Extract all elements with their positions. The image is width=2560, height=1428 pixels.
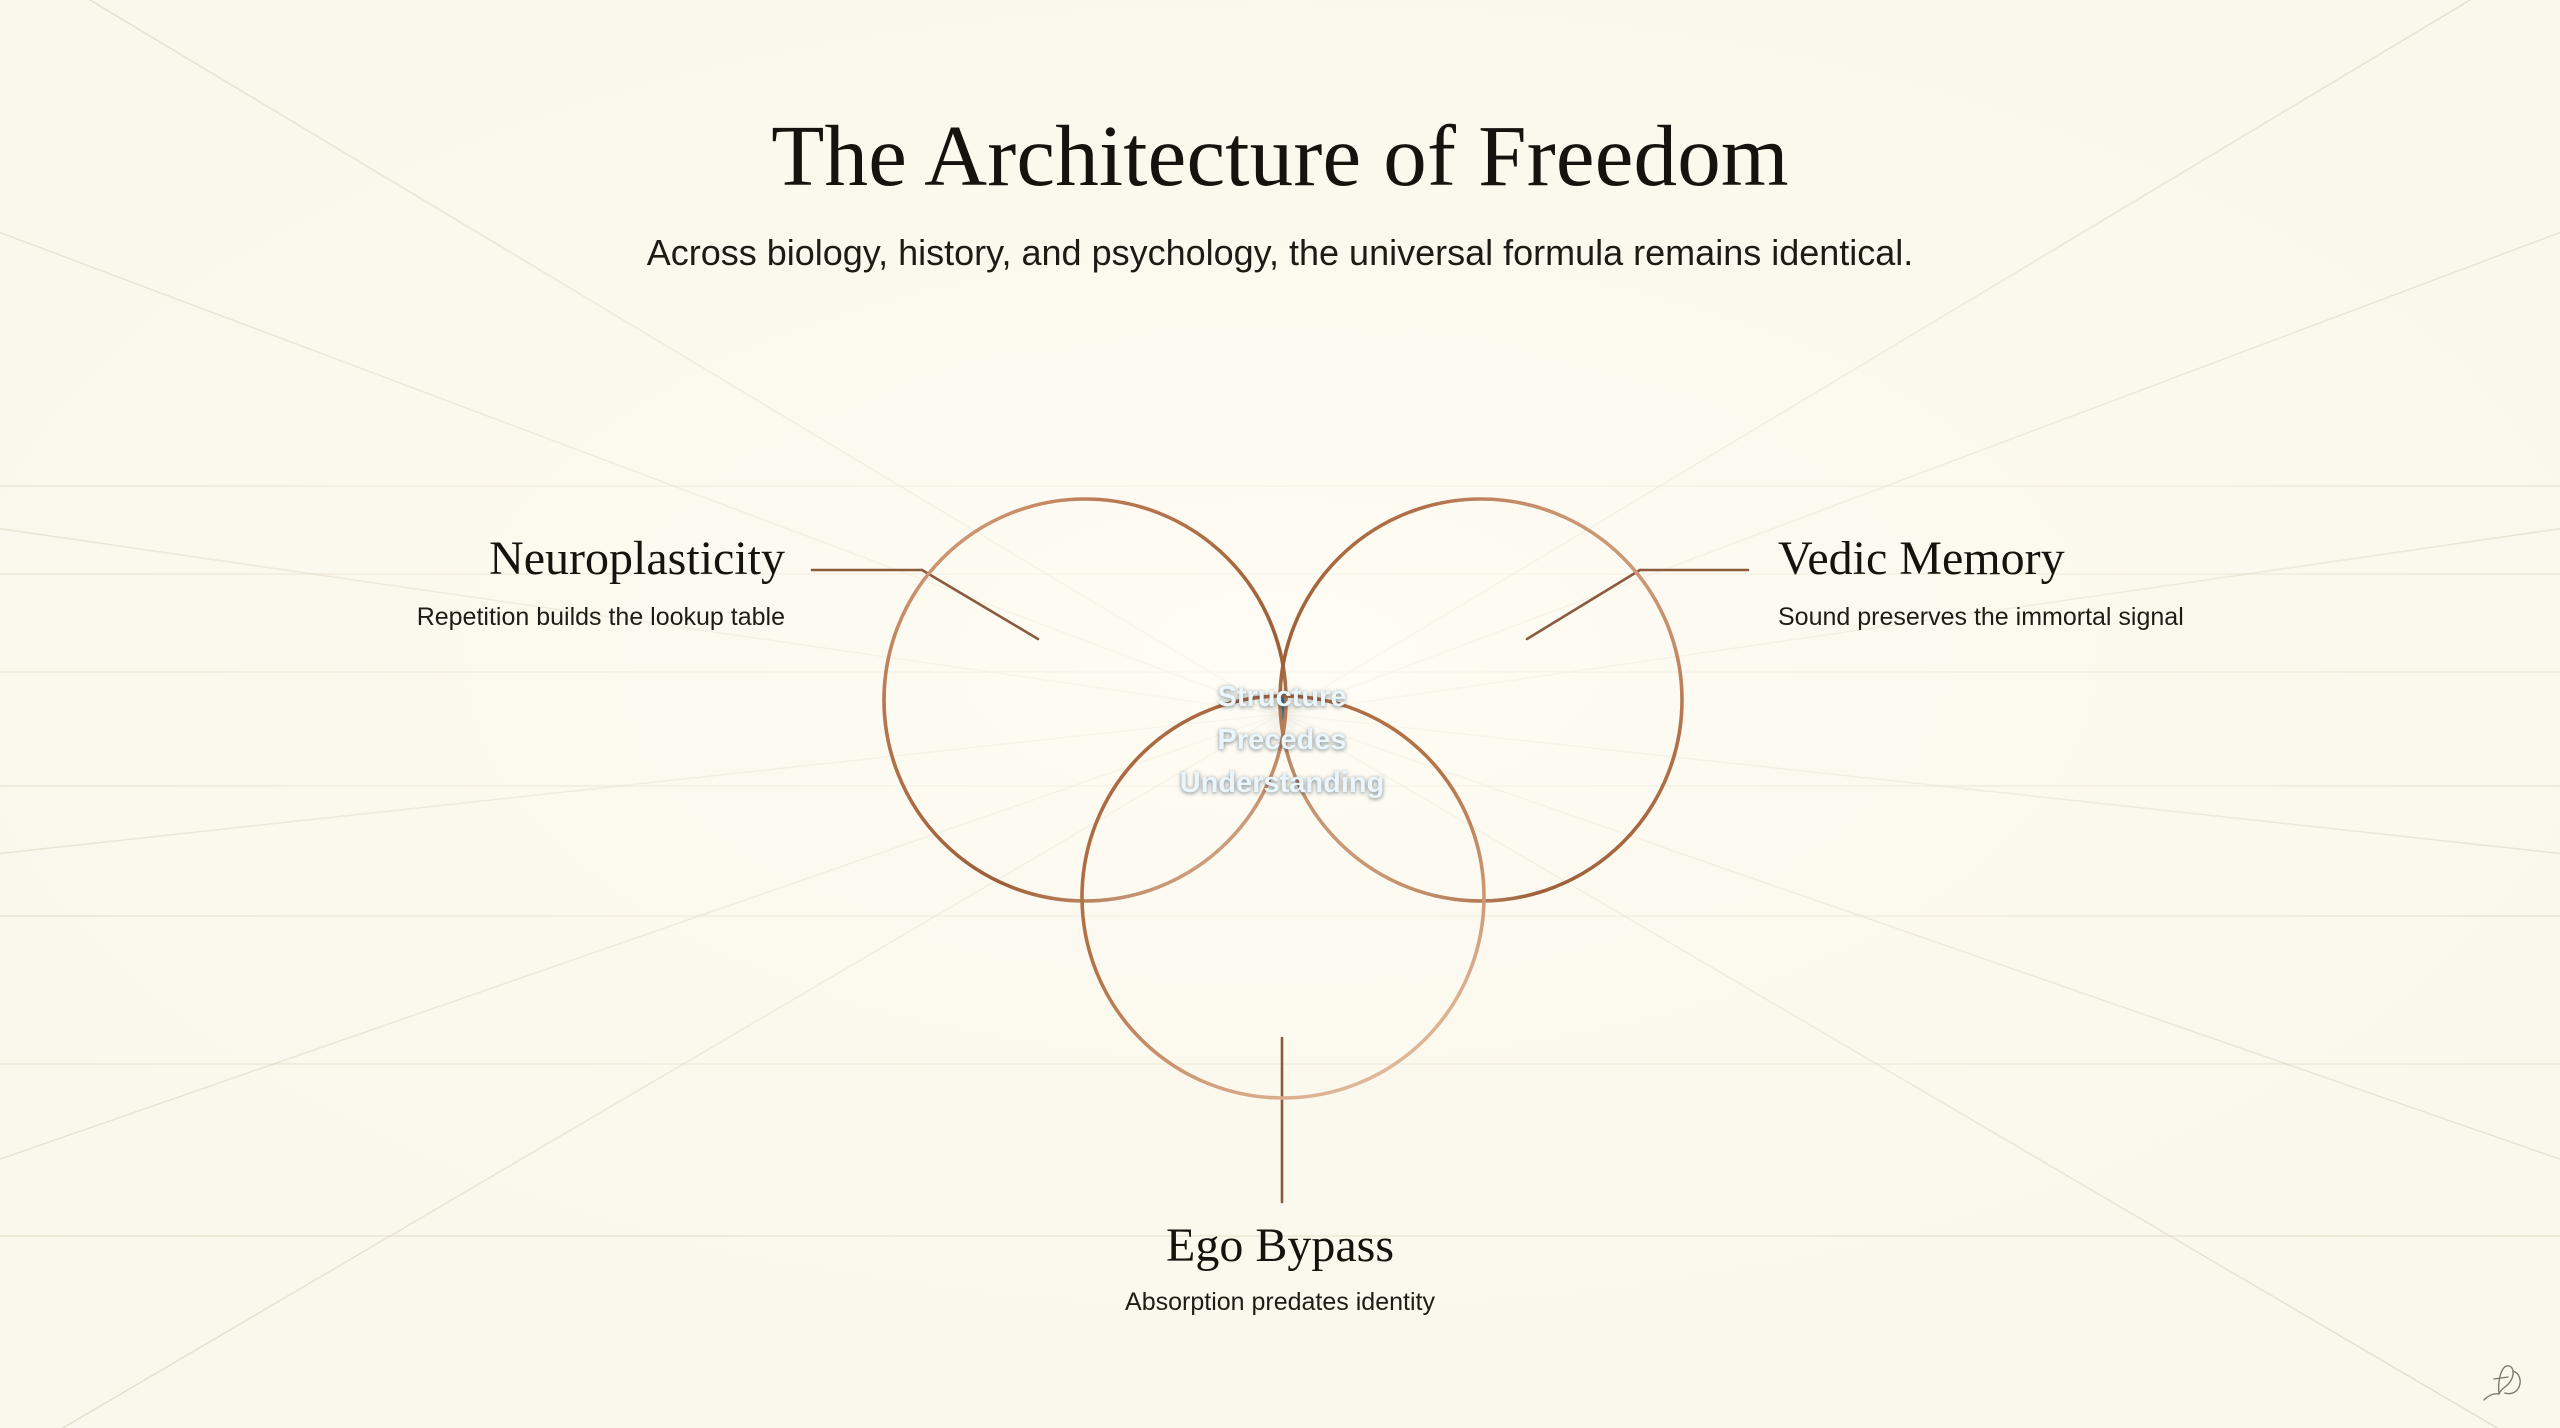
venn-circle-vedic-memory[interactable] [1280,499,1682,901]
venn-circle-neuroplasticity[interactable] [884,499,1286,901]
node-label-vedic-memory[interactable]: Vedic Memory Sound preserves the immorta… [1778,535,2184,630]
node-title-neuroplasticity: Neuroplasticity [417,535,785,583]
node-subtitle-ego-bypass: Absorption predates identity [0,1270,2560,1315]
node-label-neuroplasticity[interactable]: Neuroplasticity Repetition builds the lo… [417,535,785,630]
node-title-ego-bypass: Ego Bypass [0,1222,2560,1270]
venn-diagram [0,0,2560,1428]
connector-left-leader [922,570,1038,639]
signature-mark-icon [2478,1356,2532,1410]
slide-canvas: The Architecture of Freedom Across biolo… [0,0,2560,1428]
connector-right-leader [1527,570,1640,639]
node-label-ego-bypass[interactable]: Ego Bypass Absorption predates identity [0,1222,2560,1315]
node-title-vedic-memory: Vedic Memory [1778,535,2184,583]
node-subtitle-neuroplasticity: Repetition builds the lookup table [417,583,785,630]
connector-lines [812,570,1748,1202]
node-subtitle-vedic-memory: Sound preserves the immortal signal [1778,583,2184,630]
